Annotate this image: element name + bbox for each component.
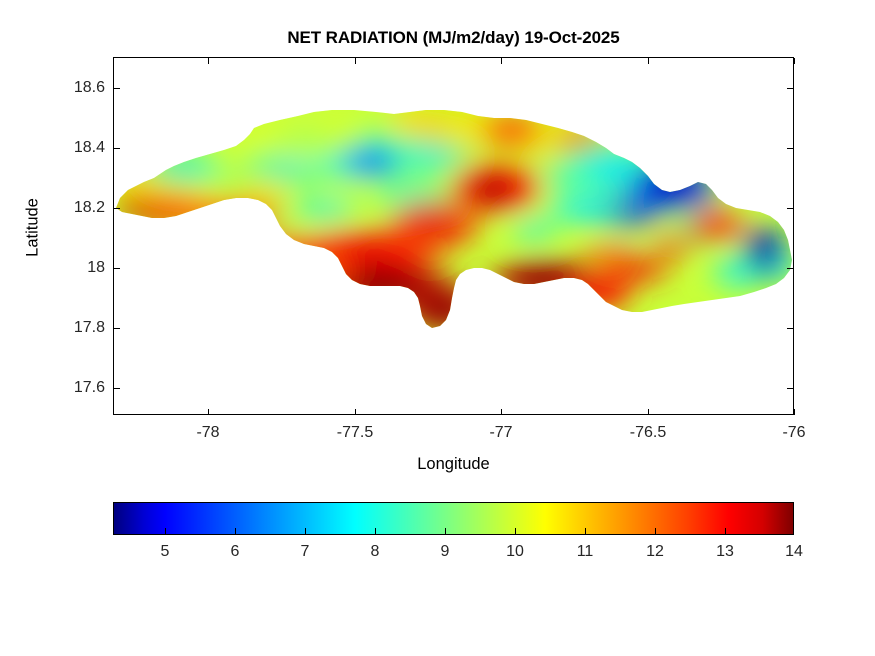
y-tick-label-5: 17.6	[45, 379, 105, 397]
y-tick-right-1	[787, 148, 793, 149]
colorbar-label-9: 14	[764, 543, 824, 561]
colorbar-label-6: 11	[555, 543, 615, 561]
x-tick-top-3	[648, 58, 649, 64]
y-tick-right-2	[787, 208, 793, 209]
y-tick-1	[114, 148, 120, 149]
colorbar-label-3: 8	[345, 543, 405, 561]
x-tick-top-0	[208, 58, 209, 64]
colorbar-tick-0	[165, 528, 166, 535]
y-tick-right-0	[787, 88, 793, 89]
y-tick-label-2: 18.2	[45, 199, 105, 217]
colorbar-label-5: 10	[485, 543, 545, 561]
y-tick-2	[114, 208, 120, 209]
x-tick-3	[648, 409, 649, 415]
y-tick-5	[114, 388, 120, 389]
matlab-figure: NET RADIATION (MJ/m2/day) 19-Oct-2025	[0, 0, 875, 656]
x-axis-label: Longitude	[113, 455, 794, 474]
x-tick-label-1: -77.5	[315, 424, 395, 442]
colorbar-tick-7	[655, 528, 656, 535]
x-tick-top-4	[794, 58, 795, 64]
colorbar[interactable]	[113, 502, 794, 535]
x-tick-top-1	[355, 58, 356, 64]
x-tick-label-3: -76.5	[608, 424, 688, 442]
colorbar-tick-9	[793, 528, 794, 535]
y-tick-label-3: 18	[45, 259, 105, 277]
colorbar-tick-1	[235, 528, 236, 535]
colorbar-label-2: 7	[275, 543, 335, 561]
colorbar-label-4: 9	[415, 543, 475, 561]
y-tick-3	[114, 268, 120, 269]
x-tick-top-2	[501, 58, 502, 64]
page-title: NET RADIATION (MJ/m2/day) 19-Oct-2025	[113, 28, 794, 48]
colorbar-label-7: 12	[625, 543, 685, 561]
colorbar-label-8: 13	[695, 543, 755, 561]
colorbar-label-1: 6	[205, 543, 265, 561]
x-tick-4	[794, 409, 795, 415]
colorbar-tick-6	[585, 528, 586, 535]
x-tick-label-4: -76	[754, 424, 834, 442]
x-tick-label-0: -78	[168, 424, 248, 442]
y-tick-label-4: 17.8	[45, 319, 105, 337]
map-axes[interactable]	[113, 57, 794, 415]
y-tick-label-1: 18.4	[45, 139, 105, 157]
x-tick-0	[208, 409, 209, 415]
colorbar-label-0: 5	[135, 543, 195, 561]
x-tick-1	[355, 409, 356, 415]
colorbar-tick-8	[725, 528, 726, 535]
y-tick-4	[114, 328, 120, 329]
colorbar-tick-5	[515, 528, 516, 535]
y-tick-label-0: 18.6	[45, 79, 105, 97]
x-tick-label-2: -77	[461, 424, 541, 442]
colorbar-tick-4	[445, 528, 446, 535]
y-tick-0	[114, 88, 120, 89]
colorbar-tick-3	[375, 528, 376, 535]
y-tick-right-3	[787, 268, 793, 269]
jamaica-net-radiation-raster	[114, 58, 794, 415]
y-axis-label: Latitude	[24, 138, 43, 318]
y-tick-right-5	[787, 388, 793, 389]
x-tick-2	[501, 409, 502, 415]
y-tick-right-4	[787, 328, 793, 329]
colorbar-tick-2	[305, 528, 306, 535]
